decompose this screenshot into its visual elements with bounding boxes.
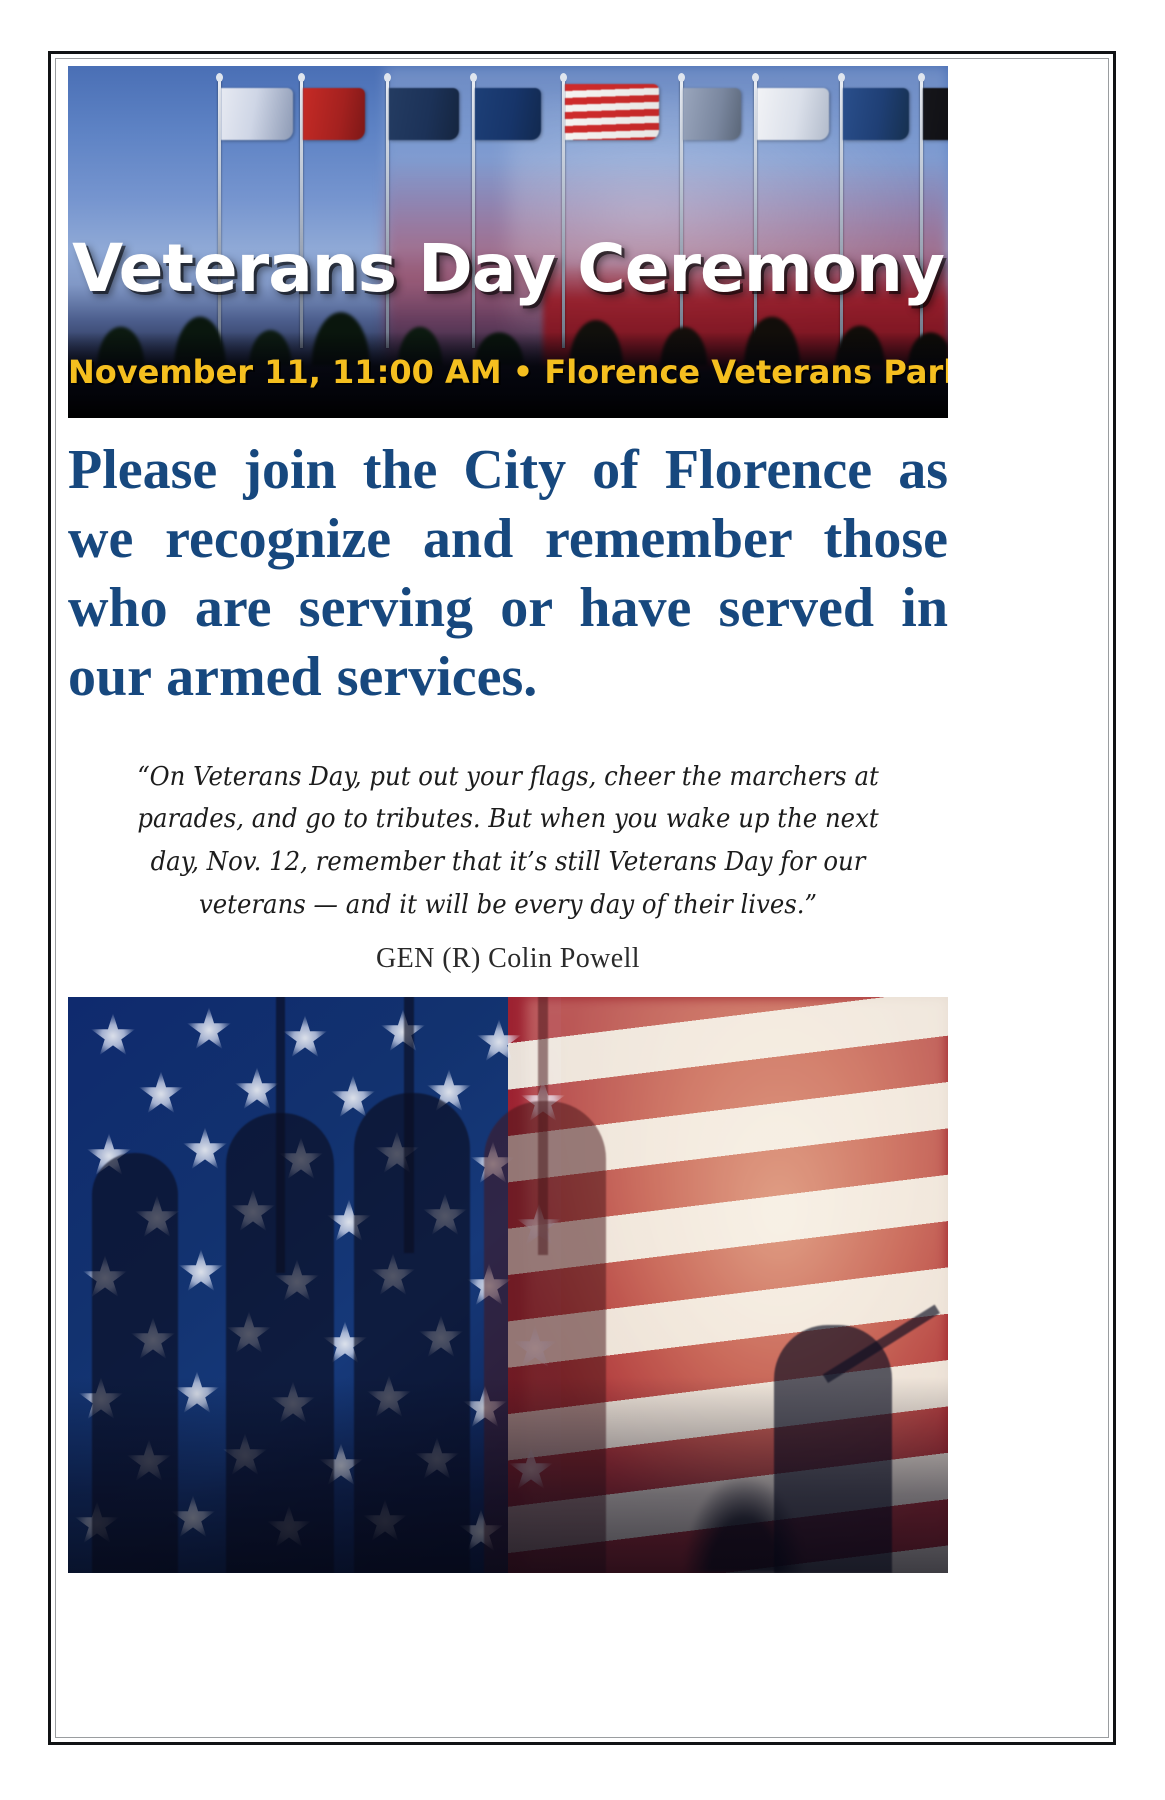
- flag-icon: [683, 88, 741, 140]
- flag-icon: [303, 88, 365, 140]
- us-flag-icon: [565, 84, 659, 140]
- poster-content: Veterans Day Ceremony November 11, 11:00…: [68, 66, 948, 1730]
- flag-icon: [221, 88, 293, 140]
- flag-icon: [389, 88, 459, 140]
- soldier-rifle-icon: [404, 997, 414, 1253]
- poster-page: Veterans Day Ceremony November 11, 11:00…: [0, 0, 1165, 1800]
- banner-image: Veterans Day Ceremony November 11, 11:00…: [68, 66, 948, 418]
- quote-text: “On Veterans Day, put out your flags, ch…: [111, 756, 904, 928]
- banner-subtitle: November 11, 11:00 AM • Florence Veteran…: [68, 356, 948, 388]
- soldier-rifle-icon: [276, 997, 285, 1273]
- flag-icon: [923, 88, 948, 140]
- soldiers-flag-photo: [68, 997, 948, 1573]
- quote-attribution: GEN (R) Colin Powell: [68, 943, 948, 975]
- headline-text: Please join the City of Florence as we r…: [68, 436, 948, 712]
- flag-icon: [843, 88, 909, 140]
- soldier-rifle-icon: [538, 997, 548, 1255]
- banner-title: Veterans Day Ceremony: [68, 236, 948, 302]
- photo-bottom-shadow: [68, 1377, 948, 1573]
- flag-icon: [475, 88, 541, 140]
- flag-icon: [757, 88, 829, 140]
